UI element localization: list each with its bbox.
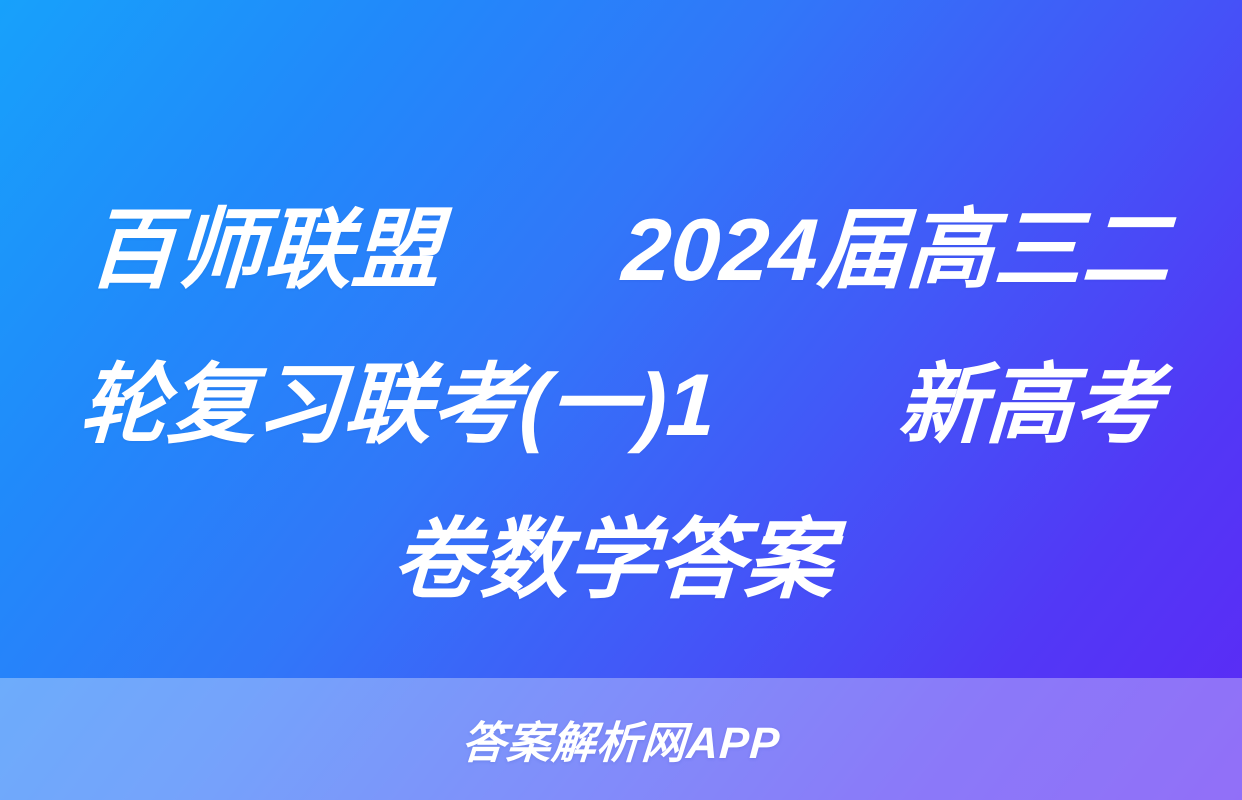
poster-canvas: 百师联盟 2024届高三二 轮复习联考(一)1 新高考 卷数学答案 答案解析网A… [0,0,1242,800]
footer-brand-bar: 答案解析网APP [0,678,1242,800]
title-line-2-left: 轮复习联考(一)1 [76,327,720,482]
title-line-1: 百师联盟 2024届高三二 [84,172,1174,327]
title-line-1-right: 2024届高三二 [618,172,1174,327]
page-title: 百师联盟 2024届高三二 轮复习联考(一)1 新高考 卷数学答案 [68,172,1174,637]
app-brand-label: 答案解析网APP [460,707,783,771]
title-line-2: 轮复习联考(一)1 新高考 [76,327,1166,482]
title-line-2-right: 新高考 [894,327,1166,482]
title-line-1-left: 百师联盟 [84,172,444,327]
title-line-3: 卷数学答案 [68,482,1158,637]
